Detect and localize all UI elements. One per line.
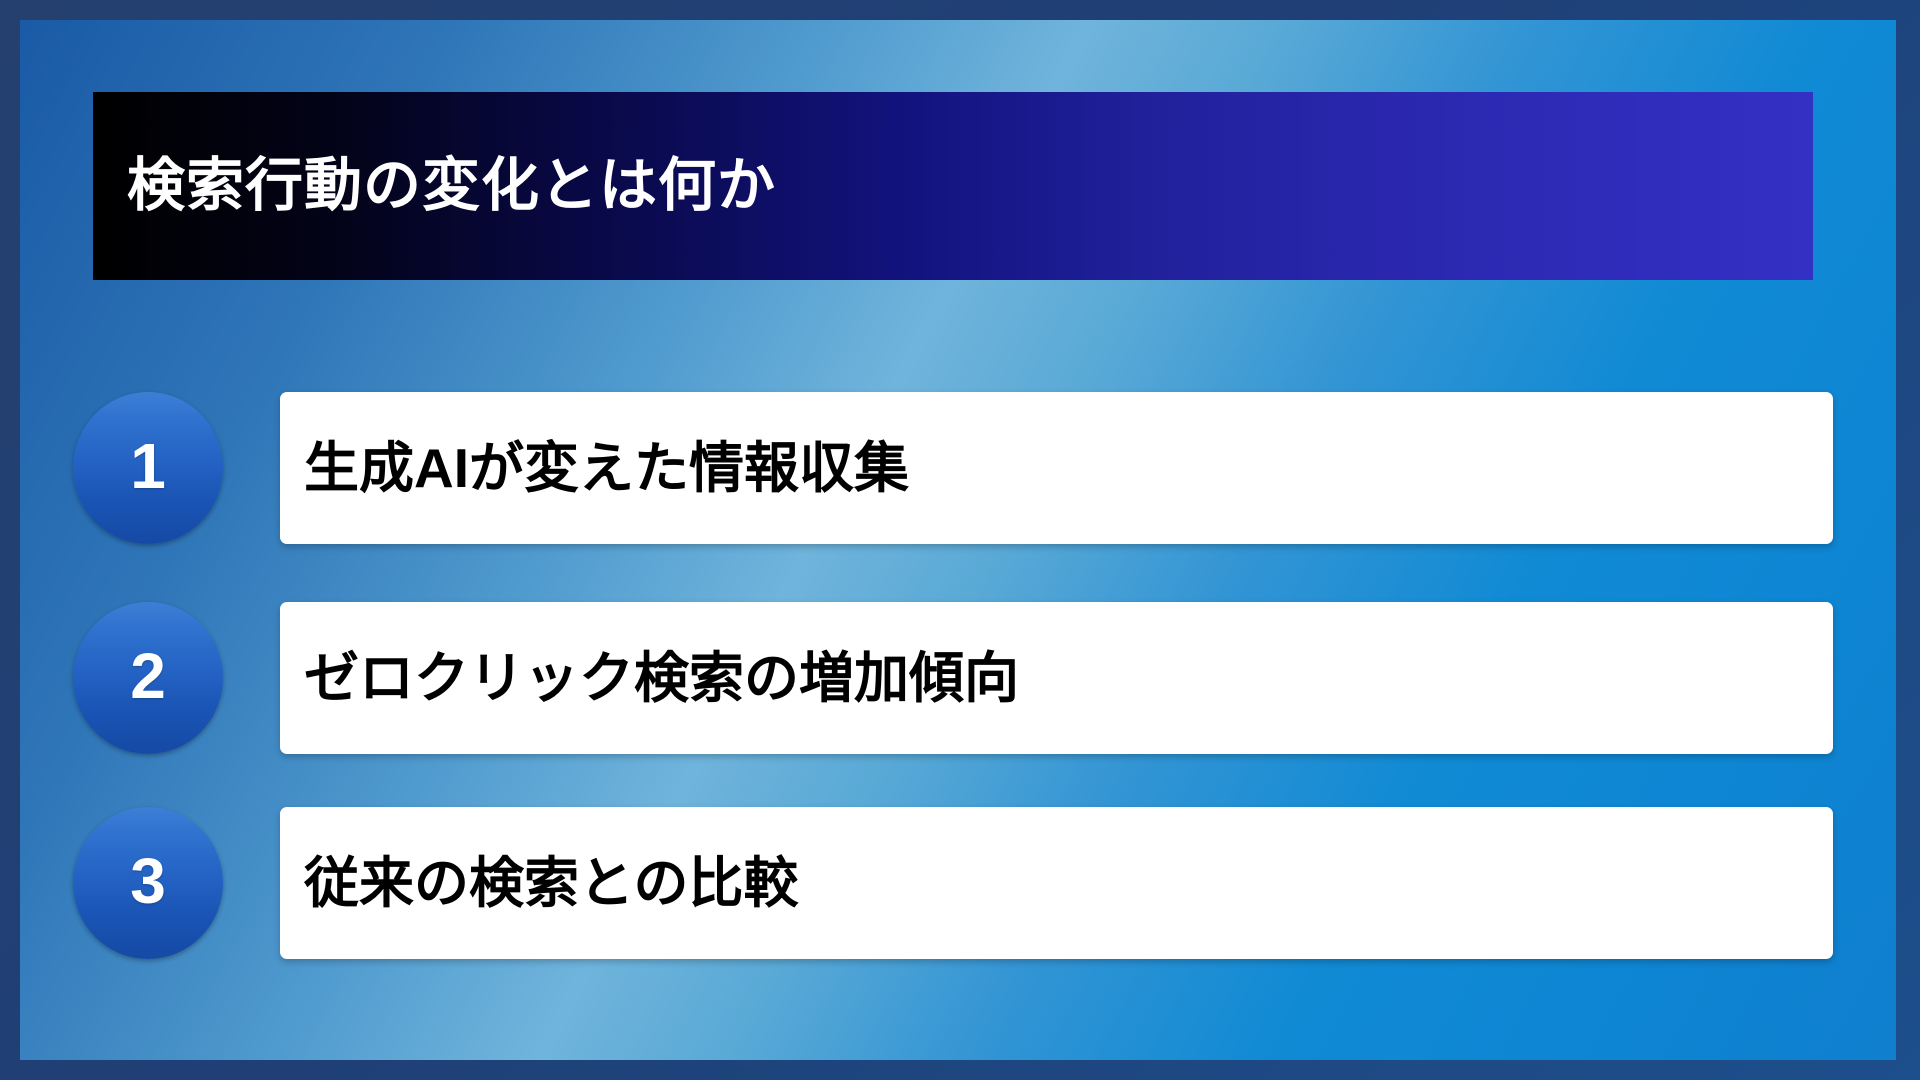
item-card[interactable]: ゼロクリック検索の増加傾向 [280, 602, 1833, 754]
slide-content-area: 検索行動の変化とは何か 1 生成AIが変えた情報収集 2 ゼロクリック検索の増加… [20, 20, 1896, 1060]
item-number-label: 3 [130, 849, 166, 913]
item-card-label: 生成AIが変えた情報収集 [280, 441, 909, 496]
item-number-badge: 3 [73, 807, 223, 959]
item-card-label: ゼロクリック検索の増加傾向 [280, 651, 1019, 706]
list-item[interactable]: 2 ゼロクリック検索の増加傾向 [73, 602, 1833, 754]
slide-title-band: 検索行動の変化とは何か [93, 92, 1813, 280]
item-number-label: 1 [130, 434, 166, 498]
item-card[interactable]: 生成AIが変えた情報収集 [280, 392, 1833, 544]
list-item[interactable]: 3 従来の検索との比較 [73, 807, 1833, 959]
slide: 検索行動の変化とは何か 1 生成AIが変えた情報収集 2 ゼロクリック検索の増加… [0, 0, 1920, 1080]
item-number-badge: 2 [73, 602, 223, 754]
page-title: 検索行動の変化とは何か [127, 157, 776, 215]
item-number-label: 2 [130, 644, 166, 708]
item-number-badge: 1 [73, 392, 223, 544]
item-card-label: 従来の検索との比較 [280, 856, 798, 911]
list-item[interactable]: 1 生成AIが変えた情報収集 [73, 392, 1833, 544]
item-card[interactable]: 従来の検索との比較 [280, 807, 1833, 959]
